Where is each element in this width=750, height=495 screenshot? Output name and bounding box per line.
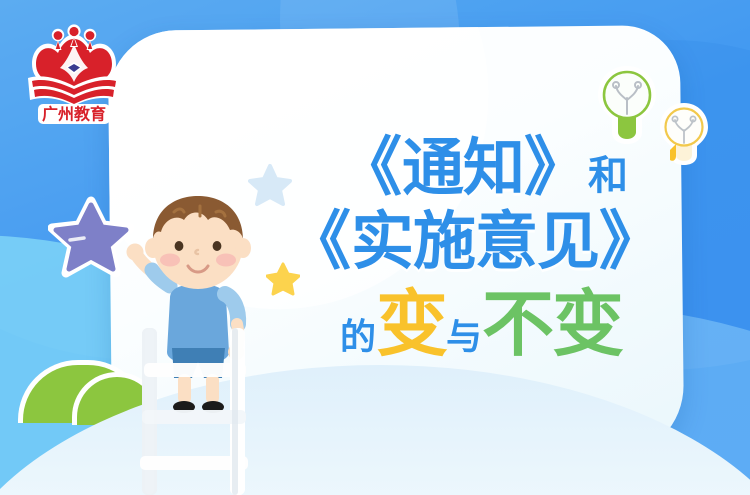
headline-word-bubian: 不变 (482, 288, 622, 360)
headline-word-bian: 变 (376, 288, 446, 360)
headline-word-de: 的 (340, 320, 376, 356)
headline-word-he: 和 (588, 156, 628, 196)
headline-bracket-open: 《 (338, 136, 402, 200)
headline-word-tongzhi: 通知 (402, 137, 524, 199)
headline-block: 《 通知 》 和 《 实施意见 》 的 变 与 不变 (262, 136, 692, 416)
poster-canvas: 广州教育 (0, 0, 750, 495)
headline-line-1: 《 通知 》 和 (338, 136, 628, 200)
headline-bracket-open: 《 (287, 210, 351, 274)
logo-text: 广州教育 (42, 105, 106, 124)
boy-left-hand (127, 244, 144, 261)
headline-word-yu: 与 (446, 320, 482, 356)
headline-line-3: 的 变 与 不变 (340, 288, 622, 360)
boy-eye (213, 241, 222, 251)
headline-bracket-close: 》 (599, 210, 663, 274)
headline-word-shishiyijian: 实施意见 (351, 210, 599, 273)
boy-eye (175, 241, 184, 251)
guangzhou-education-logo: 广州教育 (18, 18, 130, 130)
headline-bracket-close: 》 (524, 136, 588, 200)
headline-line-2: 《 实施意见 》 (287, 210, 663, 274)
